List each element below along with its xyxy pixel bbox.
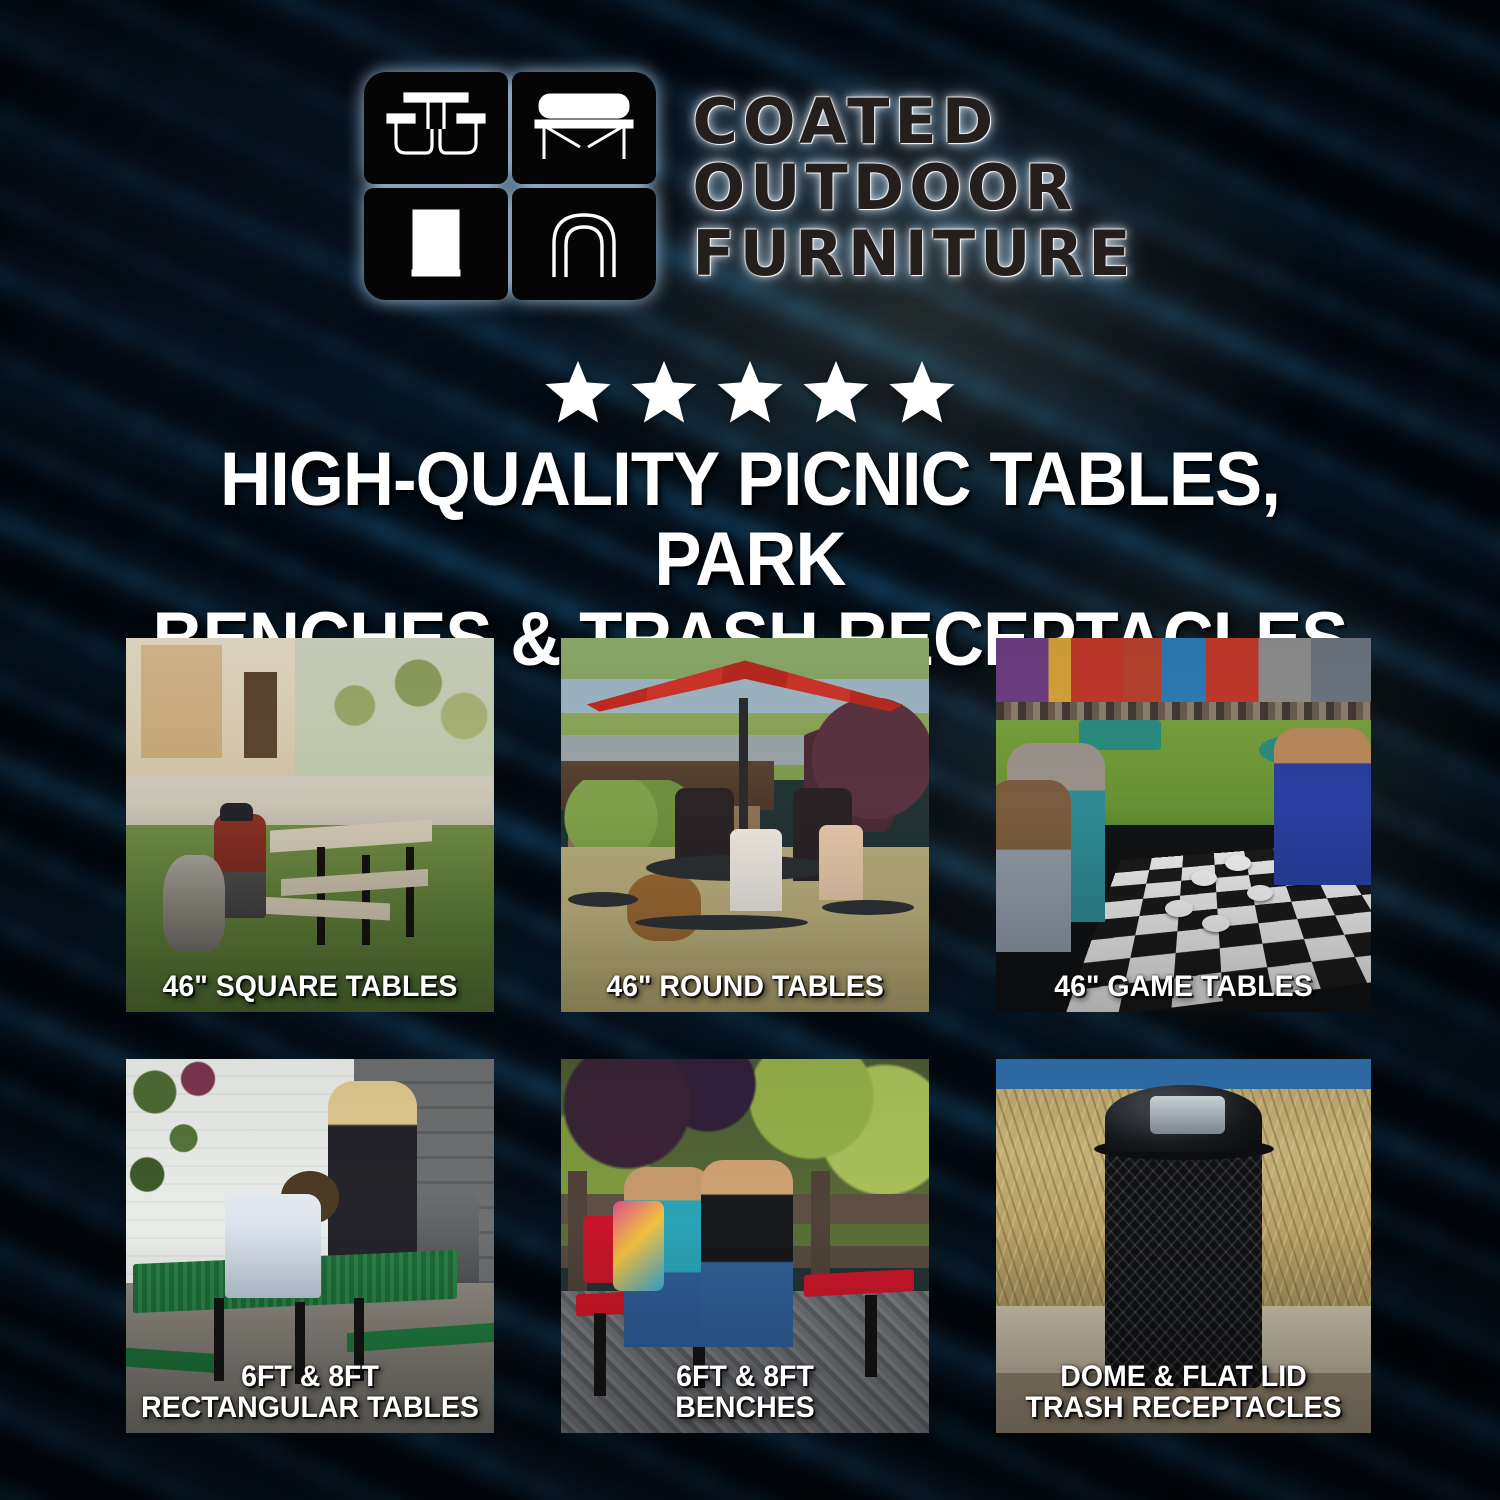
logo-wordmark: COATED OUTDOOR FURNITURE	[692, 86, 1135, 286]
bike-rack-icon	[512, 188, 656, 300]
caption-line-1: 46" SQUARE TABLES	[141, 971, 479, 1002]
logo-word-2: OUTDOOR	[692, 156, 1135, 220]
caption-line-1: 46" ROUND TABLES	[576, 971, 914, 1002]
product-caption: 46" GAME TABLES	[1011, 971, 1356, 1002]
product-caption: 6FT & 8FT RECTANGULAR TABLES	[141, 1361, 479, 1423]
promo-banner: COATED OUTDOOR FURNITURE HIGH-QUALITY PI…	[0, 0, 1500, 1500]
picnic-table-icon	[364, 72, 508, 184]
product-card-game-tables[interactable]: 46" GAME TABLES	[996, 638, 1371, 1012]
logo-word-3: FURNITURE	[692, 222, 1135, 286]
product-grid: 46" SQUARE TABLES	[126, 638, 1372, 1433]
star-icon	[714, 358, 786, 426]
product-photo-square-tables	[126, 638, 494, 1012]
product-card-rectangular-tables[interactable]: 6FT & 8FT RECTANGULAR TABLES	[126, 1059, 494, 1433]
product-card-square-tables[interactable]: 46" SQUARE TABLES	[126, 638, 494, 1012]
product-photo-round-tables	[561, 638, 929, 1012]
star-icon	[628, 358, 700, 426]
product-caption: 6FT & 8FT BENCHES	[576, 1361, 914, 1423]
star-rating	[0, 358, 1500, 426]
product-caption: 46" SQUARE TABLES	[141, 971, 479, 1002]
product-card-round-tables[interactable]: 46" ROUND TABLES	[561, 638, 929, 1012]
caption-line-2: RECTANGULAR TABLES	[141, 1392, 479, 1423]
product-caption: DOME & FLAT LID TRASH RECEPTACLES	[1011, 1361, 1356, 1423]
product-photo-game-tables	[996, 638, 1371, 1012]
caption-line-1: 6FT & 8FT	[576, 1361, 914, 1392]
park-bench-icon	[512, 72, 656, 184]
logo-word-1: COATED	[692, 90, 1135, 154]
product-card-trash-receptacles[interactable]: DOME & FLAT LID TRASH RECEPTACLES	[996, 1059, 1371, 1433]
product-caption: 46" ROUND TABLES	[576, 971, 914, 1002]
brand-logo: COATED OUTDOOR FURNITURE	[0, 72, 1500, 300]
star-icon	[800, 358, 872, 426]
caption-line-2: BENCHES	[576, 1392, 914, 1423]
star-icon	[542, 358, 614, 426]
star-icon	[886, 358, 958, 426]
caption-line-1: DOME & FLAT LID	[1011, 1361, 1356, 1392]
caption-line-1: 46" GAME TABLES	[1011, 971, 1356, 1002]
logo-icon-grid	[364, 72, 656, 300]
product-card-benches[interactable]: 6FT & 8FT BENCHES	[561, 1059, 929, 1433]
headline-line-1: HIGH-QUALITY PICNIC TABLES, PARK	[220, 437, 1280, 602]
caption-line-2: TRASH RECEPTACLES	[1011, 1392, 1356, 1423]
caption-line-1: 6FT & 8FT	[141, 1361, 479, 1392]
trash-receptacle-icon	[364, 188, 508, 300]
